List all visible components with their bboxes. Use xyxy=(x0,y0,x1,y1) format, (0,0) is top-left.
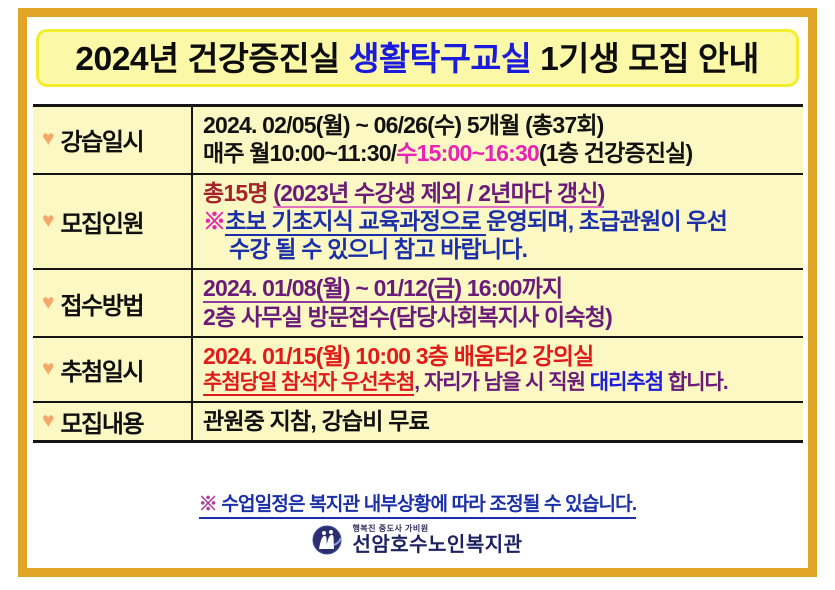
text-segment: 초보 기초지식 교육과정으로 xyxy=(225,208,486,236)
organization-logo: 행복진 중도사 가비원 선암호수노인복지관 xyxy=(0,525,835,555)
text-segment: 2024. 01/08(월) ~ 01/12(금) 16:00까지 xyxy=(203,275,562,303)
row-value-line: 2024. 01/15(월) 10:00 3층 배움터2 강의실 xyxy=(203,342,797,370)
table-row: ♥접수방법2024. 01/08(월) ~ 01/12(금) 16:00까지2층… xyxy=(33,270,803,338)
row-value-line: 추첨당일 참석자 우선추첨, 자리가 남을 시 직원 대리추첨 합니다. xyxy=(203,370,797,396)
logo-name: 선암호수노인복지관 xyxy=(352,535,522,555)
text-segment: (2023년 수강생 제외 / 2년마다 갱신) xyxy=(273,180,604,208)
row-label-cell: ♥모집내용 xyxy=(33,403,193,440)
table-row: ♥모집인원총15명 (2023년 수강생 제외 / 2년마다 갱신)※초보 기초… xyxy=(33,175,803,271)
text-segment: 추첨당일 참석자 우선추첨 xyxy=(203,371,414,396)
row-value-line: 총15명 (2023년 수강생 제외 / 2년마다 갱신) xyxy=(203,179,797,207)
table-row: ♥추첨일시2024. 01/15(월) 10:00 3층 배움터2 강의실추첨당… xyxy=(33,338,803,403)
text-segment: 총15명 xyxy=(203,180,273,206)
row-value-cell: 2024. 01/15(월) 10:00 3층 배움터2 강의실추첨당일 참석자… xyxy=(193,338,803,401)
logo-tagline: 행복진 중도사 가비원 xyxy=(352,525,522,533)
title-highlight: 생활탁구교실 xyxy=(349,40,532,77)
row-label-cell: ♥모집인원 xyxy=(33,175,193,269)
row-value-line: 2024. 01/08(월) ~ 01/12(금) 16:00까지 xyxy=(203,274,797,302)
row-value-cell: 총15명 (2023년 수강생 제외 / 2년마다 갱신)※초보 기초지식 교육… xyxy=(193,175,803,269)
row-value-line: 관원중 지참, 강습비 무료 xyxy=(203,407,797,435)
text-segment: ※ xyxy=(203,208,225,234)
row-value-line: ※초보 기초지식 교육과정으로 운영되며, 초급관원이 우선 xyxy=(203,207,797,235)
title-part-1: 2024년 건강증진실 xyxy=(76,40,349,77)
text-segment: 수15:00~16:30 xyxy=(396,140,539,166)
page-title: 2024년 건강증진실 생활탁구교실 1기생 모집 안내 xyxy=(76,42,760,75)
heart-icon: ♥ xyxy=(42,128,54,149)
welfare-center-logo-icon xyxy=(312,525,346,555)
row-value-line: 매주 월10:00~11:30/수15:00~16:30(1층 건강증진실) xyxy=(203,139,797,167)
row-label: 모집내용 xyxy=(60,404,143,439)
footer-note: ※ 수업일정은 복지관 내부상황에 따라 조정될 수 있습니다. xyxy=(0,489,835,519)
row-label: 추첨일시 xyxy=(60,352,143,387)
heart-icon: ♥ xyxy=(42,292,54,313)
text-segment: 매주 월10:00~11:30/ xyxy=(203,140,396,166)
row-label: 모집인원 xyxy=(60,204,143,239)
text-segment: , 자리가 남을 시 직원 xyxy=(414,371,590,394)
poster-title-banner: 2024년 건강증진실 생활탁구교실 1기생 모집 안내 xyxy=(36,29,799,87)
row-value-line: 수강 될 수 있으니 참고 바랍니다. xyxy=(203,235,797,263)
info-table: ♥강습일시2024. 02/05(월) ~ 06/26(수) 5개월 (총37회… xyxy=(33,104,803,443)
text-segment: 합니다. xyxy=(663,371,728,394)
row-value-line: 2층 사무실 방문접수(담당사회복지사 이숙청) xyxy=(203,303,797,331)
text-segment: (1층 건강증진실) xyxy=(539,140,692,166)
row-label: 강습일시 xyxy=(60,122,143,157)
footer-note-text: ※ 수업일정은 복지관 내부상황에 따라 조정될 수 있습니다. xyxy=(199,489,637,519)
row-label-cell: ♥접수방법 xyxy=(33,270,193,336)
row-value-cell: 2024. 01/08(월) ~ 01/12(금) 16:00까지2층 사무실 … xyxy=(193,270,803,336)
row-label-cell: ♥추첨일시 xyxy=(33,338,193,401)
heart-icon: ♥ xyxy=(42,210,54,231)
heart-icon: ♥ xyxy=(42,358,54,379)
text-segment: 수강 될 수 있으니 참고 바랍니다. xyxy=(229,236,527,262)
row-label-cell: ♥강습일시 xyxy=(33,107,193,173)
poster-canvas: 2024년 건강증진실 생활탁구교실 1기생 모집 안내 ♥강습일시2024. … xyxy=(0,0,835,590)
row-label: 접수방법 xyxy=(60,286,143,321)
logo-text-group: 행복진 중도사 가비원 선암호수노인복지관 xyxy=(352,525,522,555)
table-row: ♥모집내용관원중 지참, 강습비 무료 xyxy=(33,403,803,440)
text-segment: 2024. 02/05(월) ~ 06/26(수) 5개월 (총37회) xyxy=(203,112,604,138)
footer-note-body: 수업일정은 복지관 내부상황에 따라 조정될 수 있습니다. xyxy=(217,494,636,515)
asterisk-icon: ※ xyxy=(199,494,217,515)
row-value-line: 2024. 02/05(월) ~ 06/26(수) 5개월 (총37회) xyxy=(203,111,797,139)
text-segment: 2024. 01/15(월) 10:00 3층 배움터2 강의실 xyxy=(203,343,593,369)
text-segment: 2층 사무실 방문접수(담당사회복지사 이숙청) xyxy=(203,304,612,330)
title-part-2: 1기생 모집 안내 xyxy=(532,40,759,77)
row-value-cell: 2024. 02/05(월) ~ 06/26(수) 5개월 (총37회)매주 월… xyxy=(193,107,803,173)
text-segment: 관원중 지참, 강습비 무료 xyxy=(203,408,429,434)
text-segment: 운영되며, 초급관원이 우선 xyxy=(486,208,727,234)
text-segment: 대리추첨 xyxy=(590,371,663,394)
table-row: ♥강습일시2024. 02/05(월) ~ 06/26(수) 5개월 (총37회… xyxy=(33,107,803,175)
row-value-cell: 관원중 지참, 강습비 무료 xyxy=(193,403,803,440)
heart-icon: ♥ xyxy=(42,410,54,431)
